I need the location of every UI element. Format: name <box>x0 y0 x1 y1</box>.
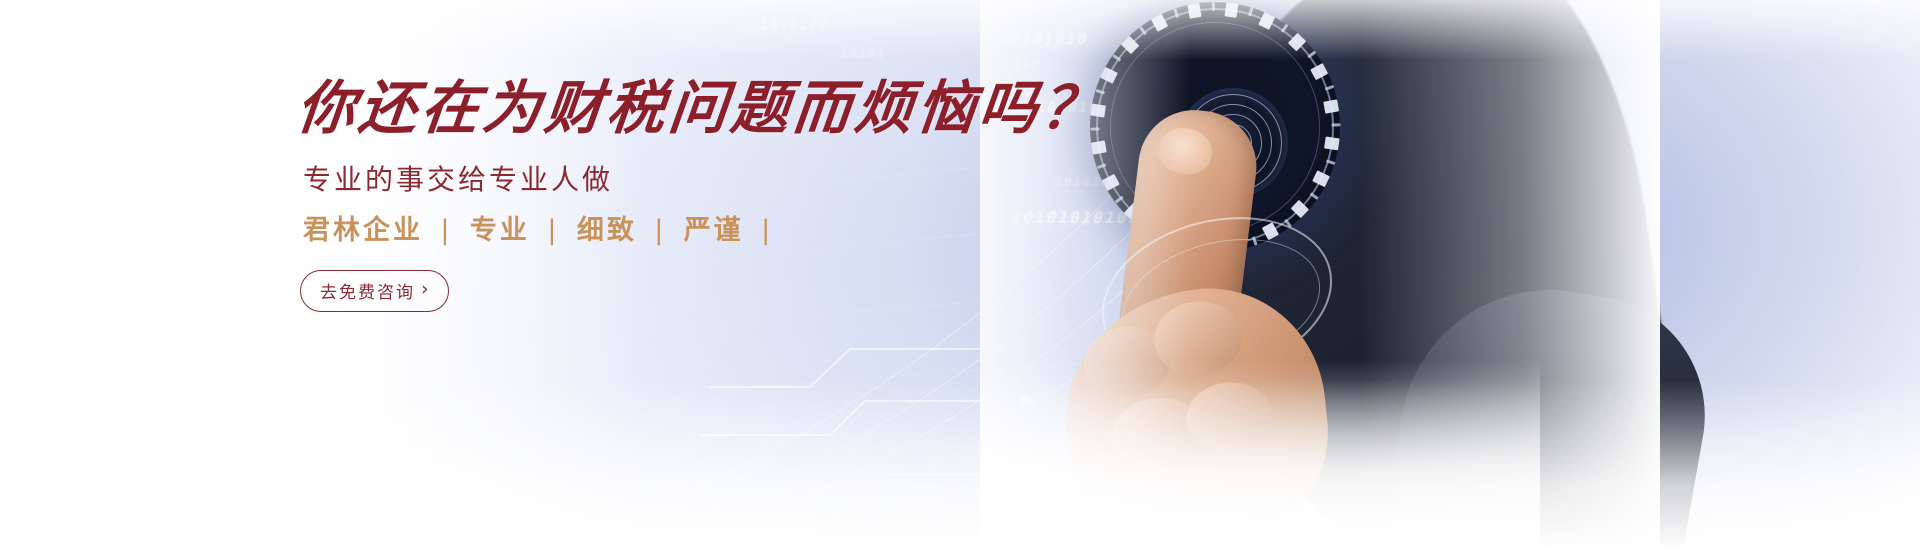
bottom-white-fade <box>0 380 1920 550</box>
tagline-item-2: 细致 <box>577 215 637 246</box>
hero-banner: 10101010 1010 101 101010101010 101010101… <box>0 0 1920 550</box>
chevron-right-icon: › <box>421 280 431 299</box>
banner-subtitle: 专业的事交给专业人做 <box>303 163 997 197</box>
top-white-fade <box>0 0 1920 60</box>
tagline-item-brand: 君林企业 <box>303 215 423 246</box>
tagline-separator: | <box>435 215 457 246</box>
tagline-item-3: 严谨 <box>684 215 744 246</box>
tagline-trailing-separator: | <box>756 215 778 246</box>
banner-headline: 你还在为财税问题而烦恼吗？ <box>294 78 1000 139</box>
tagline-separator: | <box>649 215 671 246</box>
tagline-item-1: 专业 <box>470 215 530 246</box>
free-consultation-label: 去免费咨询 <box>320 278 415 303</box>
banner-tagline: 君林企业 | 专业 | 细致 | 严谨 | <box>303 215 997 247</box>
free-consultation-button[interactable]: 去免费咨询 › <box>300 270 449 312</box>
tagline-separator: | <box>542 215 564 246</box>
banner-copy-block: 你还在为财税问题而烦恼吗？ 专业的事交给专业人做 君林企业 | 专业 | 细致 … <box>297 78 997 312</box>
